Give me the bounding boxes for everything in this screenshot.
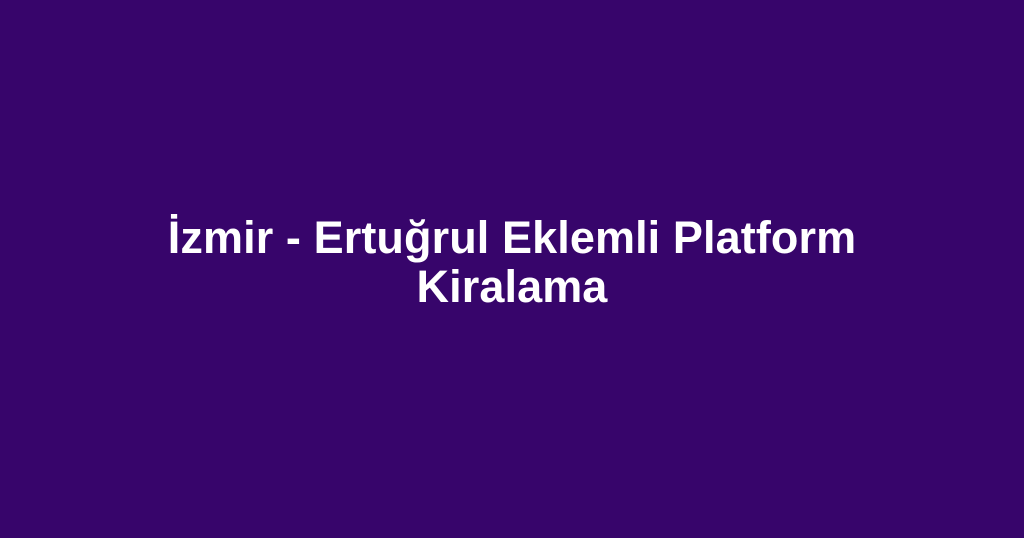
headline-block: İzmir - Ertuğrul Eklemli Platform Kirala…	[147, 214, 877, 311]
title-banner: İzmir - Ertuğrul Eklemli Platform Kirala…	[0, 0, 1024, 538]
page-title: İzmir - Ertuğrul Eklemli Platform Kirala…	[147, 214, 877, 311]
